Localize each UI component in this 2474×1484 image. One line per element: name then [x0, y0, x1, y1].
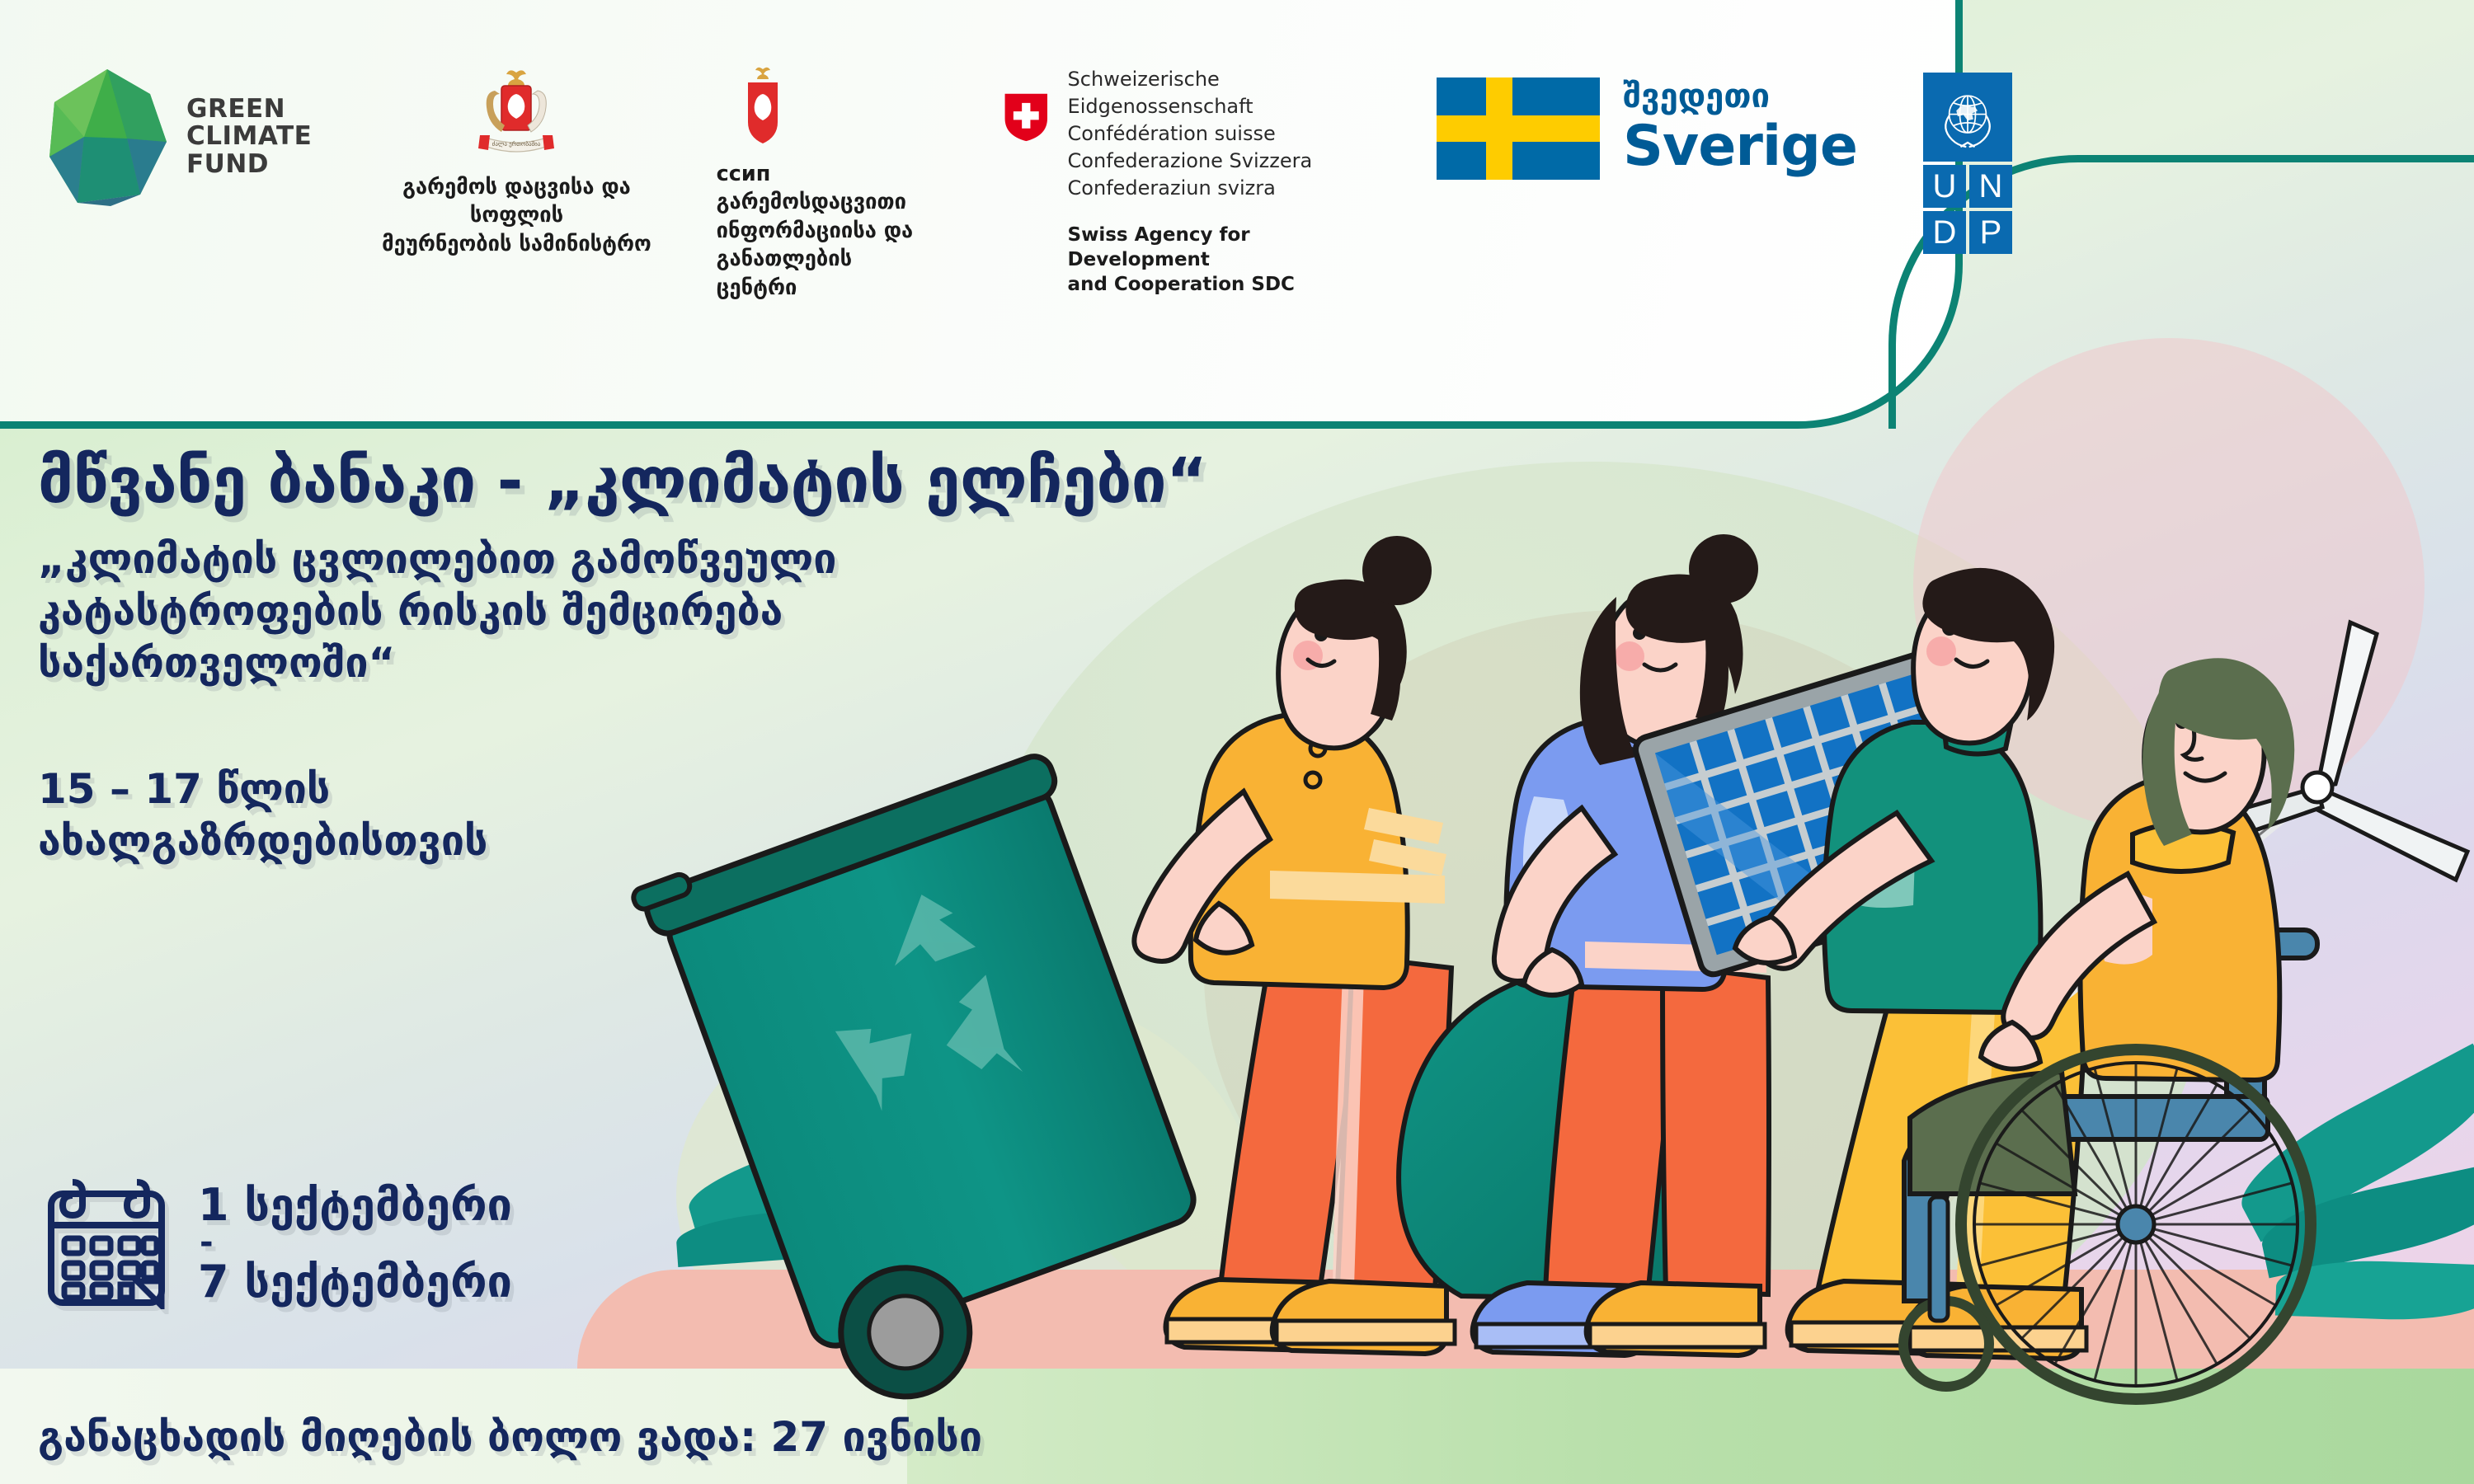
ministry-wordmark: გარემოს დაცვისა და სოფლის მეურნეობის სამ…	[374, 173, 658, 258]
age-range-line: 15 – 17 წლის	[38, 763, 1440, 815]
subtitle-line-3: საქართველოში“	[38, 637, 1440, 689]
poster-root: GREEN CLIMATE FUND ძალა ერთობაშია	[0, 0, 2474, 1484]
page-title: მწვანე ბანაკი - „კლიმატის ელჩები“	[38, 445, 1440, 515]
sweden-wordmark: შვედეთი Sverige	[1623, 80, 1857, 178]
sweden-georgian-label: შვედეთი	[1623, 80, 1857, 113]
georgia-coat-of-arms-icon: ძალა ერთობაშია	[463, 66, 569, 163]
undp-lockup: U N D P	[1923, 73, 2012, 254]
swiss-sdc-line-2: and Cooperation SDC	[1068, 272, 1362, 297]
event-dates-text: 1 სექტემბერი - 7 სექტემბერი	[198, 1182, 512, 1305]
swiss-lang-rm: Confederaziun svizra	[1068, 175, 1362, 202]
undp-letter-grid: U N D P	[1923, 165, 2012, 254]
date-separator: -	[200, 1231, 512, 1254]
gcf-line-3: FUND	[186, 151, 312, 178]
flag-cross-horizontal	[1437, 115, 1600, 142]
sponsor-logos: GREEN CLIMATE FUND ძალა ერთობაშია	[0, 66, 2012, 256]
georgia-small-crest-icon	[728, 66, 797, 152]
info-line-3: განათლების ცენტრი	[717, 245, 934, 302]
info-line-1: ссип გარემოსდაცვითი	[717, 160, 934, 217]
logo-undp: U N D P	[1923, 73, 2012, 254]
gcf-line-2: CLIMATE	[186, 123, 312, 150]
event-start-date: 1 სექტემბერი	[198, 1182, 512, 1229]
event-end-date: 7 სექტემბერი	[198, 1259, 512, 1306]
swiss-shield-icon	[1003, 87, 1050, 147]
swiss-sdc-line-1: Swiss Agency for Development	[1068, 223, 1362, 273]
ministry-line-1: გარემოს დაცვისა და სოფლის	[374, 173, 658, 230]
gcf-line-1: GREEN	[186, 96, 312, 123]
sweden-latin-label: Sverige	[1623, 116, 1857, 178]
info-centre-wordmark: ссип გარემოსდაცვითი ინფორმაციისა და განა…	[717, 160, 934, 302]
gcf-wordmark: GREEN CLIMATE FUND	[186, 96, 312, 178]
undp-letter-u: U	[1923, 165, 1966, 208]
info-line-2: ინფორმაციისა და	[717, 217, 934, 245]
project-subtitle: „კლიმატის ცვლილებით გამოწვეული კატასტროფ…	[38, 533, 1440, 689]
logo-green-climate-fund: GREEN CLIMATE FUND	[41, 66, 312, 208]
swiss-languages: Schweizerische Eidgenossenschaft Confédé…	[1068, 66, 1362, 203]
swiss-sdc-name: Swiss Agency for Development and Coopera…	[1068, 223, 1362, 298]
logo-ministry-of-environment-georgia: ძალა ერთობაშია გარემოს დაცვისა და სოფლის…	[374, 66, 658, 258]
swiss-lang-it: Confederazione Svizzera	[1068, 148, 1362, 175]
logo-environmental-info-centre: ссип გარემოსდაცვითი ინფორმაციისა და განა…	[717, 66, 934, 302]
undp-letter-p: P	[1969, 211, 2012, 254]
logo-swiss-sdc: Schweizerische Eidgenossenschaft Confédé…	[1003, 66, 1362, 298]
swiss-lang-de: Schweizerische Eidgenossenschaft	[1068, 66, 1362, 120]
swiss-wordmark: Schweizerische Eidgenossenschaft Confédé…	[1068, 66, 1362, 298]
calendar-icon	[45, 1179, 168, 1309]
age-group-text: 15 – 17 წლის ახალგაზრდებისთვის	[38, 763, 1440, 867]
header-divider-line	[2111, 155, 2474, 162]
svg-text:ძალა ერთობაშია: ძალა ერთობაშია	[492, 140, 541, 148]
application-deadline-text: განაცხადის მიღების ბოლო ვადა: 27 ივნისი	[38, 1415, 982, 1460]
logo-sweden: შვედეთი Sverige	[1437, 77, 1857, 180]
undp-letter-d: D	[1923, 211, 1966, 254]
main-copy-block: მწვანე ბანაკი - „კლიმატის ელჩები“ „კლიმა…	[38, 445, 1440, 867]
ministry-line-2: მეურნეობის სამინისტრო	[374, 230, 658, 258]
gcf-polygon-icon	[41, 66, 173, 208]
swedish-flag-icon	[1437, 77, 1600, 180]
age-audience-line: ახალგაზრდებისთვის	[38, 815, 1440, 867]
subtitle-line-1: „კლიმატის ცვლილებით გამოწვეული	[38, 533, 1440, 585]
un-emblem-icon	[1923, 73, 2012, 162]
event-dates-row: 1 სექტემბერი - 7 სექტემბერი	[45, 1179, 512, 1309]
swiss-lang-fr: Confédération suisse	[1068, 120, 1362, 148]
undp-letter-n: N	[1969, 165, 2012, 208]
subtitle-line-2: კატასტროფების რისკის შემცირება	[38, 585, 1440, 637]
grass-frond	[2275, 1257, 2474, 1322]
